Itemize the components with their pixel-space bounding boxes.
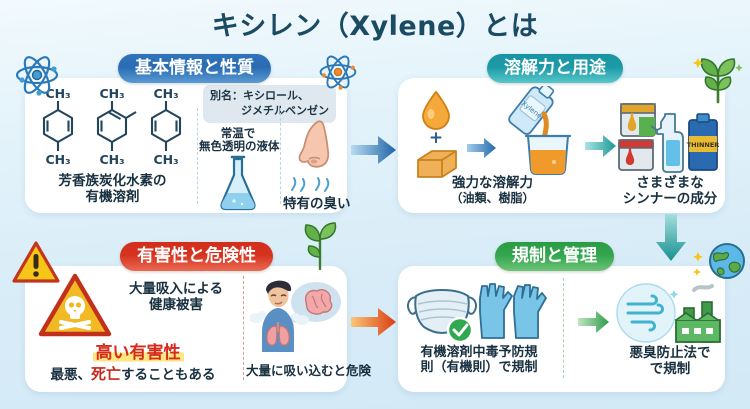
svg-text:CH₃: CH₃ (153, 88, 178, 101)
regulation-caption-organic-line2: 則（有機則）で規制 (400, 361, 558, 376)
warning-triangle-icon (12, 240, 60, 284)
flask-icon (214, 155, 262, 213)
basic-flask-group: 常温で 無色透明の液体 (199, 127, 277, 217)
hazard-highlight: 高い有害性 (36, 338, 240, 363)
arrow-inner-solvency-2 (585, 134, 617, 158)
svg-text:CH₃: CH₃ (153, 152, 178, 167)
sparkle-icon (690, 250, 714, 280)
hazard-footer-post: することもある (121, 367, 216, 383)
hazard-highlight-text: 高い有害性 (93, 338, 184, 363)
arrow-inner-solvency-1 (467, 137, 497, 159)
basic-caption-liquid-line2: 無色透明の液体 (199, 140, 277, 153)
person-lungs-brain-group (250, 274, 342, 356)
basic-caption-aromatic-line1: 芳香族炭化水素の (30, 174, 195, 190)
hazard-caption-danger-line1: 大量に吸い込むと危険 (246, 364, 344, 378)
divider-regulation (563, 278, 564, 378)
hazard-caption-inhalation: 大量吸入による 健康被害 (112, 282, 240, 313)
badge-solvency-uses: 溶解力と用途 (487, 54, 623, 83)
hazard-footer-pre: 最悪、 (50, 367, 91, 383)
badge-regulation: 規制と管理 (495, 242, 614, 271)
divider-hazard (243, 276, 244, 380)
divider-basic-1 (197, 108, 198, 204)
nose-icon (292, 120, 336, 174)
alias-line2: ジメチルベンゼン (210, 104, 329, 119)
page-title: キシレン（Xylene）とは (0, 4, 750, 43)
solvency-caption-power: 強力な溶解力 （油類、樹脂） (400, 176, 585, 205)
arrow-hazard-to-regulation (351, 307, 397, 337)
regulation-caption-odor-law-line2: で規制 (608, 362, 732, 378)
svg-text:CH₃: CH₃ (99, 88, 124, 101)
plus-sign: + (405, 134, 467, 142)
plant-sprout-icon-middle (298, 215, 342, 271)
basic-odor-group: 特有の臭い (283, 120, 345, 213)
bottle-pouring-group: Xylene (498, 86, 580, 176)
badge-basic-info: 基本情報と性質 (118, 54, 271, 83)
hazard-footer-emphasis: 死亡 (91, 365, 121, 383)
arrow-inner-regulation (578, 310, 610, 334)
atom-icon-left (14, 52, 60, 98)
hazard-caption-inhalation-line1: 大量吸入による (112, 282, 240, 298)
alias-line1: 別名：キシロール、 (210, 89, 309, 102)
basic-caption-aromatic-line2: 有機溶剤 (30, 190, 195, 206)
divider-basic-2 (280, 108, 281, 204)
wind-factory-group (614, 280, 726, 346)
benzene-ring-trio-icon: CH₃CH₃ CH₃CH₃ CH₃CH₃ (30, 88, 195, 174)
regulation-caption-organic: 有機溶剤中毒予防規 則（有機則）で規制 (400, 346, 558, 376)
solvency-caption-power-line1: 強力な溶解力 (400, 176, 585, 192)
plant-sprout-icon-top-right (692, 52, 744, 104)
regulation-caption-organic-line1: 有機溶剤中毒予防規 (400, 346, 558, 361)
hazard-footer: 最悪、死亡することもある (26, 364, 240, 384)
paint-cans-thinner-group: THINNER (617, 92, 721, 174)
svg-text:CH₃: CH₃ (99, 152, 124, 167)
hazard-caption-danger: 大量に吸い込むと危険 (246, 364, 344, 378)
badge-hazard: 有害性と危険性 (120, 242, 273, 271)
atom-icon-right (318, 52, 358, 92)
alias-box: 別名：キシロール、 ジメチルベンゼン (203, 85, 336, 123)
solvency-caption-thinner-line1: さまざまな (600, 176, 740, 192)
odor-waves-icon (288, 176, 340, 194)
thinner-can-label: THINNER (687, 141, 720, 149)
arrow-solvency-to-regulation (655, 214, 687, 262)
oil-drop-resin-group: + (405, 90, 467, 186)
basic-caption-odor: 特有の臭い (283, 197, 345, 213)
arrow-basic-to-solvency (351, 135, 397, 165)
svg-text:CH₃: CH₃ (45, 152, 70, 167)
regulation-caption-odor-law-line1: 悪臭防止法で (608, 346, 732, 362)
solvency-caption-power-line2: （油類、樹脂） (400, 192, 585, 206)
mask-gloves-group (404, 282, 550, 344)
oil-drop-icon (419, 90, 453, 130)
solvency-caption-thinner-line2: シンナーの成分 (600, 192, 740, 208)
basic-caption-aromatic: 芳香族炭化水素の 有機溶剤 (30, 174, 195, 205)
hazard-caption-inhalation-line2: 健康被害 (112, 298, 240, 314)
solvency-caption-thinner: さまざまな シンナーの成分 (600, 176, 740, 207)
regulation-caption-odor-law: 悪臭防止法で で規制 (608, 346, 732, 377)
